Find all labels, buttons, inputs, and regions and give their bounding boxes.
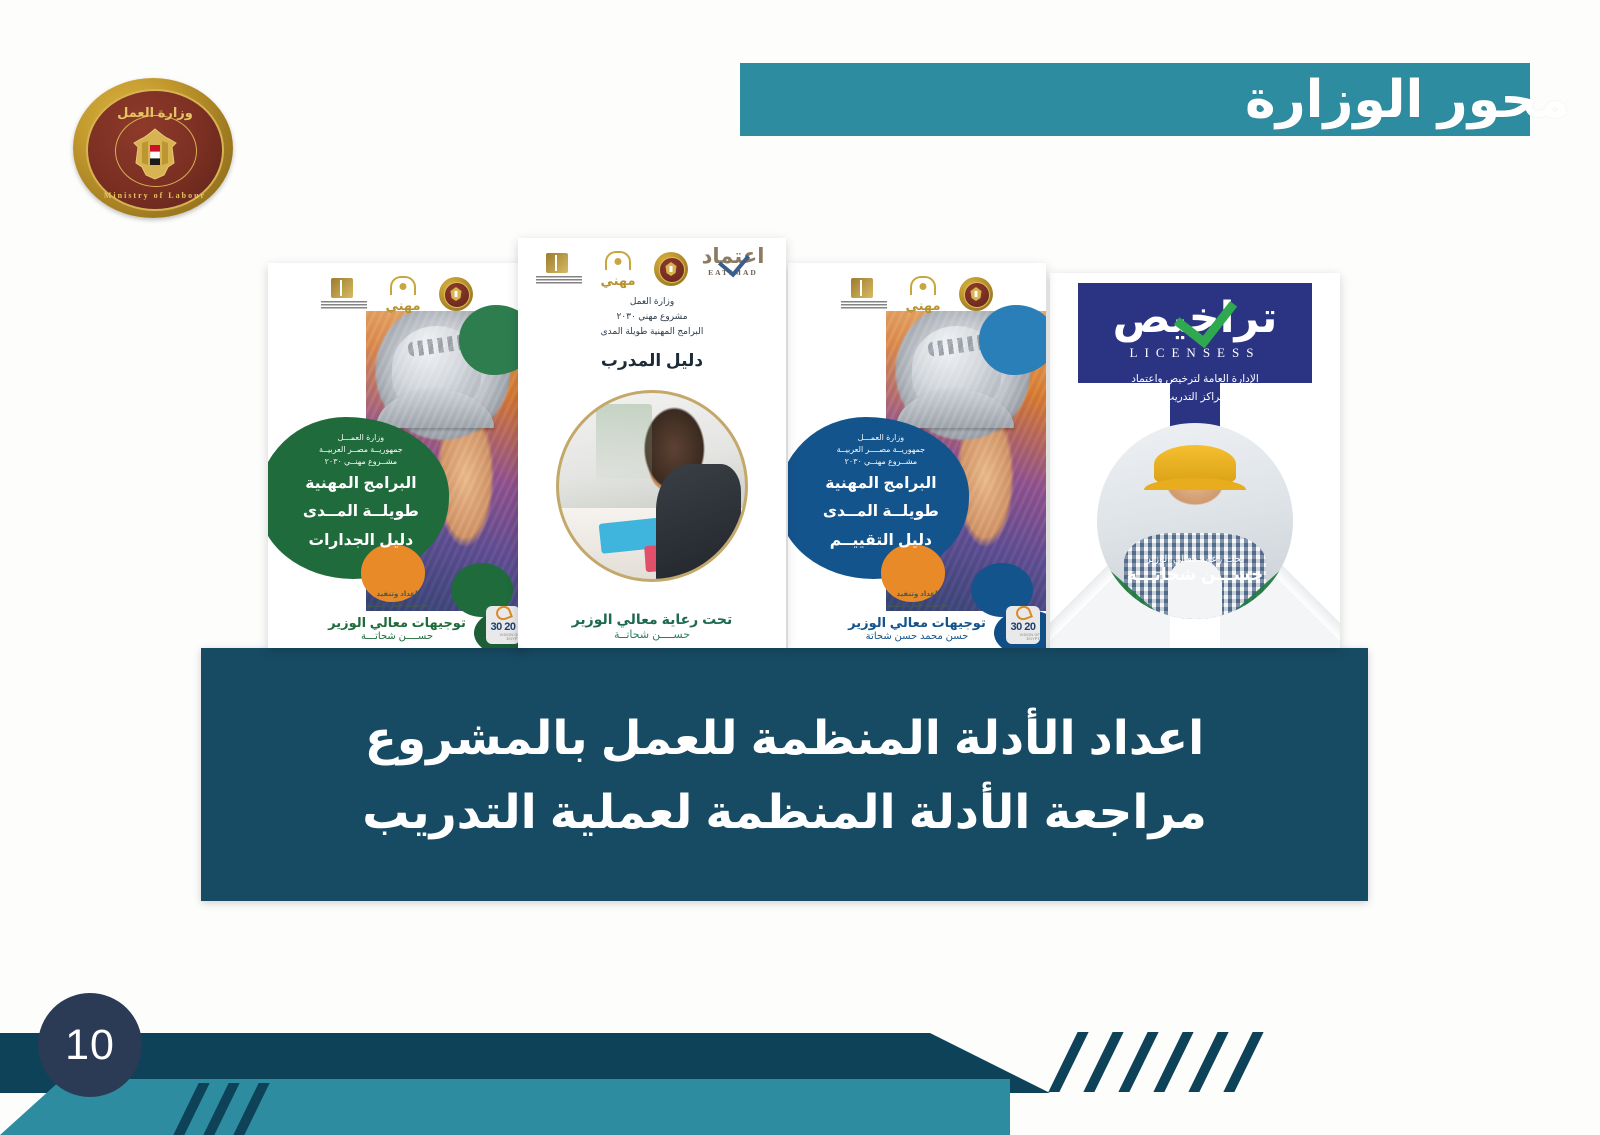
poster-title-line-2: طويلــة المــدى (281, 500, 441, 523)
vision-2030-badge: 20 30 VISION OF EGYPT (486, 606, 520, 644)
vision-badge-numbers: 20 30 (490, 621, 515, 633)
decorative-blob-top-right (459, 305, 526, 374)
foundation-logo (536, 253, 582, 285)
poster-title-line-1: البرامج المهنية (801, 472, 961, 495)
poster-org-line-1: وزارة العمل (518, 294, 786, 309)
poster-minister-name: حســــن شحاتــة (518, 628, 786, 641)
poster-competency-guide[interactable]: مهني وزارة العمـــل جمهوريــة مصــر العر… (268, 263, 526, 648)
poster-org-line-3: مشــروع مهنــي ٢٠٣٠ (801, 456, 961, 468)
poster-title-line-1: البرامج المهنية (281, 472, 441, 495)
poster-org-line-1: وزارة العمـــل (801, 432, 961, 444)
poster-licenses[interactable]: تراخيص LICENSESS الإدارة العامة لترخيص و… (1050, 273, 1340, 648)
poster-minister-label: تحت رعاية معالي الوزير (1097, 554, 1293, 565)
poster-head-block: وزارة العمل مشروع مهني ٢٠٣٠ البرامج المه… (518, 294, 786, 371)
poster-org-line-2: جمهوريــة مصــر العربيــة (281, 444, 441, 456)
main-title-box: اعداد الأدلة المنظمة للعمل بالمشروع مراج… (201, 648, 1368, 901)
poster-org-line-3: مشــروع مهنــي ٢٠٣٠ (281, 456, 441, 468)
mehany-wordmark: مهني (901, 299, 945, 312)
poster-prepared-by: مؤسسة طفرة للتنمية (366, 602, 428, 609)
vision-swoosh-icon (494, 604, 513, 622)
main-title-line-2: مراجعة الأدلة المنظمة لعملية التدريب (362, 786, 1207, 838)
footer-teal-band (0, 1079, 1010, 1135)
vision-badge-caption: VISION OF EGYPT (486, 633, 520, 641)
eatimad-logo: اعتماد EATIMAD (690, 246, 776, 282)
seal-english-text: Ministry of Labour (104, 191, 206, 200)
page-number: 10 (65, 1021, 115, 1070)
poster-title-line-3: دليل التقييــم (801, 529, 961, 552)
footer-stripe (1153, 1032, 1193, 1092)
slide-canvas: وزارة العمل Ministry of Labour محور الوز… (0, 0, 1600, 1135)
foundation-wordmark (321, 301, 367, 310)
footer-stripe (1223, 1032, 1263, 1092)
poster-footer: تحت رعاية معالي الوزير حســــن شحاتــة (518, 611, 786, 641)
gear-icon (605, 251, 631, 270)
ministry-seal-logo (959, 277, 993, 311)
technician-photo (556, 390, 748, 582)
poster-text-block: وزارة العمـــل جمهوريــة مصــر العربيــة… (281, 432, 441, 552)
mini-eagle-icon (449, 286, 464, 302)
photo-technician-torso (656, 464, 742, 579)
photo-shelf (596, 404, 652, 478)
poster-assessment-guide[interactable]: مهني وزارة العمـــل جمهوريــة مصــــر ال… (788, 263, 1046, 648)
poster-org-line-2: جمهوريــة مصــــر العربيــة (801, 444, 961, 456)
decorative-blob-top-right (979, 305, 1046, 374)
footer-stripe (1188, 1032, 1228, 1092)
vision-badge-caption: VISION OF EGYPT (1006, 633, 1040, 641)
licenses-title-english: LICENSESS (1078, 345, 1312, 361)
poster-minister-name: حســـن شحاتـــة (1097, 565, 1293, 585)
foundation-logo (841, 278, 887, 310)
poster-title-line-3: دليل الجدارات (281, 529, 441, 552)
eagle-of-saladin-icon (128, 123, 182, 181)
footer-stripe (1083, 1032, 1123, 1092)
posters-gallery: مهني وزارة العمـــل جمهوريــة مصــر العر… (260, 218, 1370, 648)
poster-org-line-2: مشروع مهني ٢٠٣٠ (518, 309, 786, 324)
mini-eagle-icon (664, 261, 679, 277)
poster-title: دليل المدرب (518, 351, 786, 371)
book-icon (331, 278, 353, 298)
footer-stripe (1118, 1032, 1158, 1092)
poster-prepared-label: إعداد وتنفيذ (788, 590, 1046, 601)
poster-title-line-2: طويلــة المــدى (801, 500, 961, 523)
book-icon (546, 253, 568, 273)
footer-stripe (1048, 1032, 1088, 1092)
ministry-seal-logo (439, 277, 473, 311)
mehany-wordmark: مهني (381, 299, 425, 312)
poster-prepared-by: مؤسسة طفرة للتنمية (886, 602, 948, 609)
poster-footer: تحت رعاية معالي الوزير حســـن شحاتـــة (1097, 554, 1293, 585)
poster-trainer-guide[interactable]: مهني اعتماد EATIMAD وزارة العمل مشروع مه… (518, 238, 786, 648)
yellow-helmet-icon (1154, 445, 1236, 484)
worker-portrait-photo: تحت رعاية معالي الوزير حســـن شحاتـــة (1097, 423, 1293, 619)
poster-text-block: وزارة العمـــل جمهوريــة مصــــر العربيـ… (801, 432, 961, 552)
mehany-logo: مهني (596, 251, 640, 287)
gear-icon (910, 276, 936, 295)
foundation-wordmark (536, 276, 582, 285)
vision-2030-badge: 20 30 VISION OF EGYPT (1006, 606, 1040, 644)
poster-org-line-3: البرامج المهنية طويلة المدى (518, 324, 786, 339)
poster-prepared-label: إعداد وتنفيذ (268, 590, 526, 601)
main-title-line-1: اعداد الأدلة المنظمة للعمل بالمشروع (365, 712, 1204, 764)
mehany-wordmark: مهني (596, 274, 640, 287)
mehany-logo: مهني (381, 276, 425, 312)
ministry-seal-logo (654, 252, 688, 286)
foundation-logo (321, 278, 367, 310)
book-icon (851, 278, 873, 298)
seal-arabic-text: وزارة العمل (117, 105, 193, 121)
page-number-badge: 10 (38, 993, 142, 1097)
mehany-logo: مهني (901, 276, 945, 312)
mini-eagle-icon (969, 286, 984, 302)
vision-swoosh-icon (1014, 604, 1033, 622)
page-title: محور الوزارة (740, 60, 1570, 140)
poster-org-line-1: وزارة العمـــل (281, 432, 441, 444)
vision-badge-numbers: 20 30 (1010, 621, 1035, 633)
ministry-of-labour-seal: وزارة العمل Ministry of Labour (73, 78, 233, 218)
footer-decoration: 10 (0, 1010, 1600, 1135)
gear-icon (390, 276, 416, 295)
seal-inner-disc: وزارة العمل Ministry of Labour (86, 89, 224, 211)
foundation-wordmark (841, 301, 887, 310)
poster-minister-label: تحت رعاية معالي الوزير (518, 611, 786, 628)
